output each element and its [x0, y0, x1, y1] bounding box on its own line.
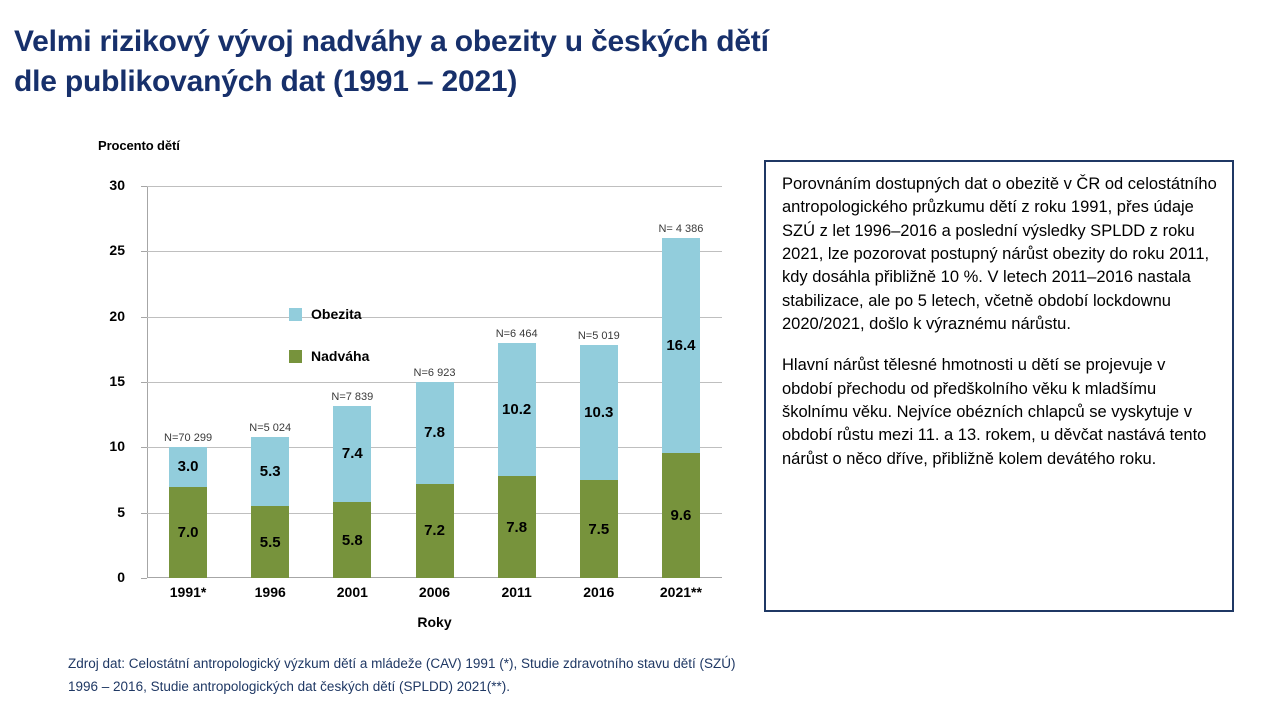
page-title: Velmi rizikový vývoj nadváhy a obezity u… [14, 22, 754, 102]
legend-label-obezita: Obezita [311, 306, 362, 322]
bar-stack[interactable]: N=6 9237.87.2 [416, 382, 454, 578]
bar-value-label-nadvaha: 7.8 [506, 520, 527, 535]
y-tick-label: 15 [65, 373, 125, 389]
source-note-line-2: 1996 – 2016, Studie antropologických dat… [68, 675, 828, 698]
y-tick-mark [141, 578, 147, 579]
slide: Velmi rizikový vývoj nadváhy a obezity u… [0, 0, 1280, 720]
y-tick-label: 0 [65, 569, 125, 585]
chart: Procento dětí 051015202530 N=70 2993.07.… [62, 138, 762, 658]
legend-item-obezita: Obezita [289, 306, 369, 322]
x-tick-label: 2016 [559, 584, 639, 600]
bar-stack[interactable]: N=7 8397.45.8 [333, 406, 371, 578]
commentary-paragraph-1: Porovnáním dostupných dat o obezitě v ČR… [782, 173, 1218, 336]
x-tick-label: 2001 [312, 584, 392, 600]
sample-size-label: N=5 024 [249, 422, 291, 434]
bar-value-label-obezita: 16.4 [666, 338, 695, 353]
bar-segment-obezita[interactable]: 5.3 [251, 437, 289, 506]
page-title-line-1: Velmi rizikový vývoj nadváhy a obezity u… [14, 22, 754, 62]
x-tick-label: 2006 [395, 584, 475, 600]
bar-value-label-nadvaha: 5.5 [260, 535, 281, 550]
bar-segment-obezita[interactable]: 10.3 [580, 345, 618, 480]
bar-stack[interactable]: N= 4 38616.49.6 [662, 238, 700, 578]
y-tick-label: 10 [65, 438, 125, 454]
sample-size-label: N=6 464 [496, 328, 538, 340]
y-tick-label: 5 [65, 504, 125, 520]
bar-value-label-obezita: 5.3 [260, 464, 281, 479]
commentary-textbox: Porovnáním dostupných dat o obezitě v ČR… [764, 160, 1234, 612]
bar-value-label-obezita: 7.8 [424, 425, 445, 440]
bar-value-label-nadvaha: 7.5 [588, 522, 609, 537]
x-tick-label: 1991* [148, 584, 228, 600]
y-tick-label: 20 [65, 308, 125, 324]
bar-series-layer: N=70 2993.07.0N=5 0245.35.5N=7 8397.45.8… [147, 186, 722, 578]
bar-value-label-obezita: 10.2 [502, 402, 531, 417]
x-tick-label: 1996 [230, 584, 310, 600]
bar-stack[interactable]: N=6 46410.27.8 [498, 343, 536, 578]
bar-segment-obezita[interactable]: 7.8 [416, 382, 454, 484]
legend-item-nadvaha: Nadváha [289, 348, 369, 364]
legend-swatch-icon-obezita [289, 308, 302, 321]
sample-size-label: N=7 839 [331, 391, 373, 403]
bar-stack[interactable]: N=70 2993.07.0 [169, 447, 207, 578]
y-axis-title: Procento dětí [98, 138, 180, 153]
plot-area: 051015202530 N=70 2993.07.0N=5 0245.35.5… [147, 186, 722, 626]
commentary-paragraph-2: Hlavní nárůst tělesné hmotnosti u dětí s… [782, 354, 1218, 471]
bar-segment-nadvaha[interactable]: 5.8 [333, 502, 371, 578]
bar-segment-obezita[interactable]: 7.4 [333, 406, 371, 503]
bar-segment-nadvaha[interactable]: 7.8 [498, 476, 536, 578]
x-tick-label: 2011 [477, 584, 557, 600]
page-title-line-2: dle publikovaných dat (1991 – 2021) [14, 62, 754, 102]
sample-size-label: N=70 299 [164, 432, 212, 444]
bar-segment-nadvaha[interactable]: 7.5 [580, 480, 618, 578]
sample-size-label: N=5 019 [578, 330, 620, 342]
bar-segment-nadvaha[interactable]: 5.5 [251, 506, 289, 578]
bar-value-label-nadvaha: 9.6 [670, 508, 691, 523]
x-tick-label: 2021** [641, 584, 721, 600]
bar-segment-obezita[interactable]: 3.0 [169, 447, 207, 486]
bar-stack[interactable]: N=5 0245.35.5 [251, 437, 289, 578]
y-tick-label: 30 [65, 177, 125, 193]
source-note-line-1: Zdroj dat: Celostátní antropologický výz… [68, 652, 828, 675]
sample-size-label: N= 4 386 [658, 223, 703, 235]
bar-segment-nadvaha[interactable]: 7.2 [416, 484, 454, 578]
bar-segment-nadvaha[interactable]: 7.0 [169, 487, 207, 578]
sample-size-label: N=6 923 [414, 367, 456, 379]
legend-swatch-icon-nadvaha [289, 350, 302, 363]
bar-value-label-nadvaha: 7.0 [178, 525, 199, 540]
bar-segment-nadvaha[interactable]: 9.6 [662, 453, 700, 578]
bar-value-label-obezita: 7.4 [342, 446, 363, 461]
bar-segment-obezita[interactable]: 16.4 [662, 238, 700, 452]
legend-label-nadvaha: Nadváha [311, 348, 369, 364]
bar-value-label-obezita: 3.0 [178, 459, 199, 474]
bar-value-label-nadvaha: 7.2 [424, 523, 445, 538]
chart-legend: Obezita Nadváha [289, 306, 369, 390]
bar-value-label-nadvaha: 5.8 [342, 533, 363, 548]
bar-stack[interactable]: N=5 01910.37.5 [580, 345, 618, 578]
bar-value-label-obezita: 10.3 [584, 405, 613, 420]
x-axis-title: Roky [147, 614, 722, 630]
source-note: Zdroj dat: Celostátní antropologický výz… [68, 652, 828, 698]
bar-segment-obezita[interactable]: 10.2 [498, 343, 536, 476]
y-tick-label: 25 [65, 242, 125, 258]
